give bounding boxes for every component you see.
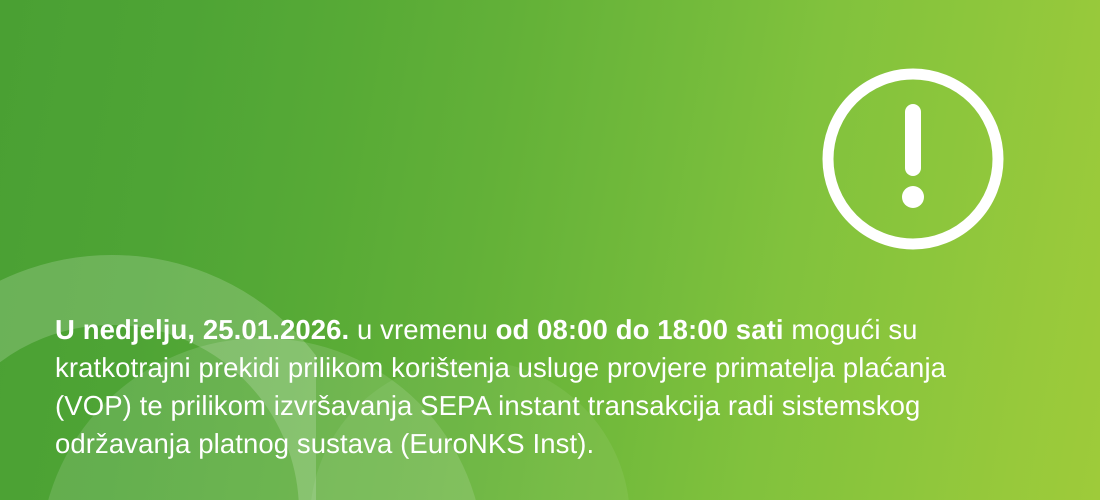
message-connector: u vremenu [349, 314, 495, 345]
maintenance-message: U nedjelju, 25.01.2026. u vremenu od 08:… [55, 311, 1015, 463]
message-date-bold: U nedjelju, 25.01.2026. [55, 314, 349, 345]
message-time-bold: od 08:00 do 18:00 sati [496, 314, 784, 345]
exclamation-dot [902, 186, 924, 208]
exclamation-circle-icon [818, 64, 1008, 254]
maintenance-notice-banner: U nedjelju, 25.01.2026. u vremenu od 08:… [0, 0, 1100, 500]
exclamation-bar [905, 104, 921, 176]
